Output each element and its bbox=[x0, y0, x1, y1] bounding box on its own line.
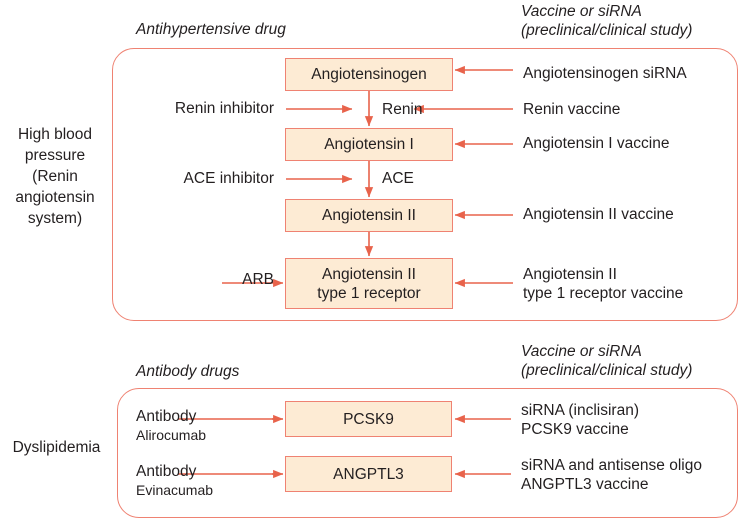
drug-label-ace-inhibitor: ACE inhibitor bbox=[100, 169, 274, 188]
node-angiotensinogen[interactable]: Angiotensinogen bbox=[285, 58, 453, 91]
agent-label-angiotensin-2-vaccine: Angiotensin II vaccine bbox=[523, 205, 674, 224]
node-angiotensin-2[interactable]: Angiotensin II bbox=[285, 199, 453, 232]
antibody-name-alirocumab: Alirocumab bbox=[136, 426, 266, 444]
antibody-line-1: Antibody bbox=[136, 463, 266, 481]
antibody-name-evinacumab: Evinacumab bbox=[136, 481, 266, 499]
node-angptl3[interactable]: ANGPTL3 bbox=[285, 456, 452, 492]
node-angiotensin-1[interactable]: Angiotensin I bbox=[285, 128, 453, 161]
side-label-high-blood-pressure: High blood pressure (Renin angiotensin s… bbox=[0, 124, 110, 229]
header-antibody-drugs: Antibody drugs bbox=[136, 362, 239, 381]
enzyme-label-renin: Renin bbox=[382, 100, 423, 119]
antibody-line-1: Antibody bbox=[136, 408, 266, 426]
agent-label-angiotensinogen-sirna: Angiotensinogen siRNA bbox=[523, 64, 687, 83]
agent-label-pcsk9-agents: siRNA (inclisiran) PCSK9 vaccine bbox=[521, 401, 639, 439]
drug-label-evinacumab: Antibody Evinacumab bbox=[136, 463, 266, 499]
agent-label-renin-vaccine: Renin vaccine bbox=[523, 100, 620, 119]
agent-label-at1-receptor-vaccine: Angiotensin II type 1 receptor vaccine bbox=[523, 265, 683, 303]
header-vaccine-sirna-top: Vaccine or siRNA (preclinical/clinical s… bbox=[521, 2, 692, 40]
header-vaccine-sirna-bottom: Vaccine or siRNA (preclinical/clinical s… bbox=[521, 342, 692, 380]
node-pcsk9[interactable]: PCSK9 bbox=[285, 401, 452, 437]
header-antihypertensive-drug: Antihypertensive drug bbox=[136, 20, 286, 39]
drug-label-alirocumab: Antibody Alirocumab bbox=[136, 408, 266, 444]
node-angiotensin-2-type-1-receptor[interactable]: Angiotensin II type 1 receptor bbox=[285, 258, 453, 309]
drug-label-renin-inhibitor: Renin inhibitor bbox=[100, 99, 274, 118]
agent-label-angptl3-agents: siRNA and antisense oligo ANGPTL3 vaccin… bbox=[521, 456, 702, 494]
side-label-dyslipidemia: Dyslipidemia bbox=[0, 437, 113, 458]
drug-label-arb: ARB bbox=[100, 270, 274, 289]
agent-label-angiotensin-1-vaccine: Angiotensin I vaccine bbox=[523, 134, 669, 153]
enzyme-label-ace: ACE bbox=[382, 169, 414, 188]
